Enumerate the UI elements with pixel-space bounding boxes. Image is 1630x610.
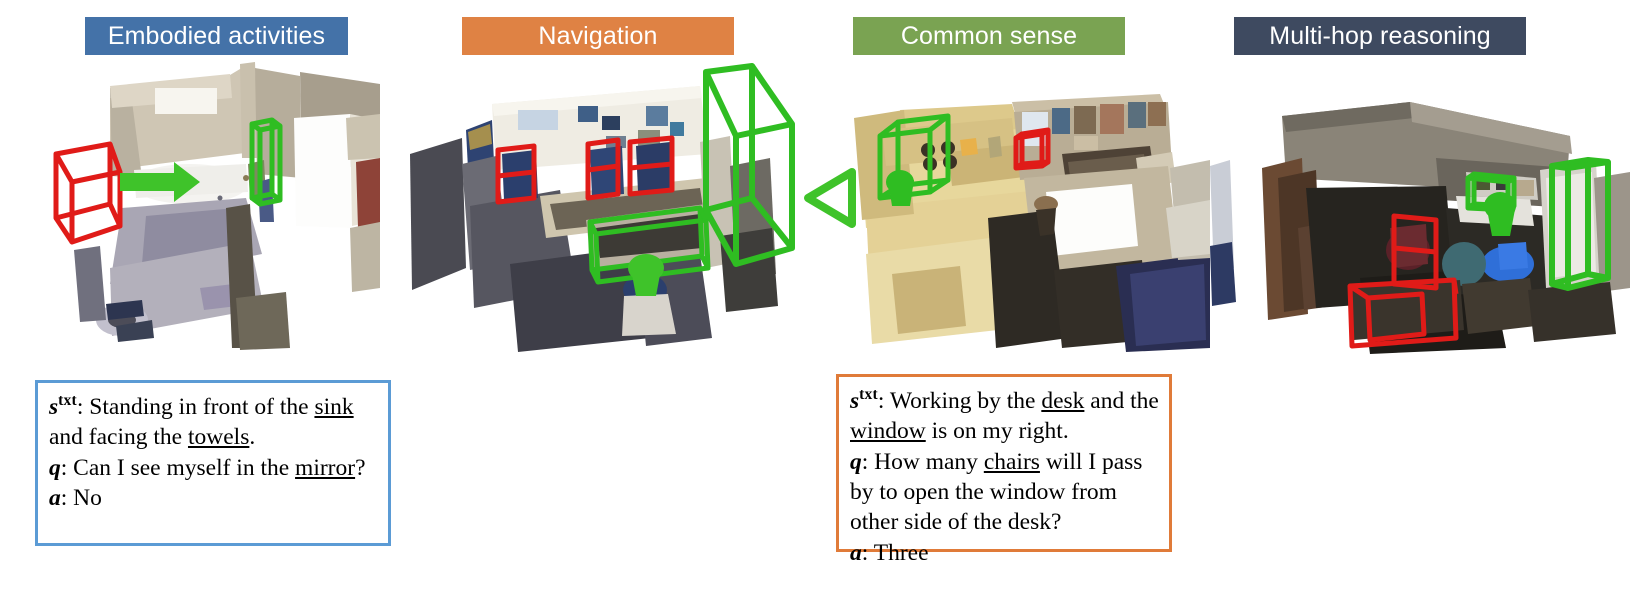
- panel-navigation: Navigation: [400, 0, 800, 610]
- red-bounding-box-sink: [56, 144, 120, 242]
- question-p2: ?: [355, 455, 365, 481]
- header-multi-hop-reasoning: Multi-hop reasoning: [1234, 17, 1526, 55]
- situation-keyword-towels: towels: [188, 424, 249, 450]
- question-p0: : Can I see myself in the: [61, 455, 295, 481]
- header-navigation: Navigation: [462, 17, 734, 55]
- header-embodied-activities: Embodied activities: [85, 17, 348, 55]
- scene-home-office-point-cloud: [1210, 58, 1630, 358]
- answer-value: : No: [61, 485, 102, 511]
- panel-common-sense: Common sense: [800, 0, 1210, 610]
- qa-card-embodied-activities: stxt: Standing in front of the sink and …: [35, 380, 391, 546]
- situation-p0: : Standing in front of the: [77, 394, 315, 420]
- situation-line: stxt: Standing in front of the sink and …: [49, 392, 379, 453]
- answer-line: a: No: [49, 483, 379, 513]
- panel-embodied-activities: Embodied activities: [0, 0, 400, 610]
- situation-p4: .: [249, 424, 255, 450]
- header-label: Common sense: [901, 22, 1077, 51]
- header-label: Navigation: [538, 22, 657, 51]
- scene-office-point-cloud: [400, 58, 800, 358]
- question-line: q: Can I see myself in the mirror?: [49, 453, 379, 483]
- scene-bathroom-point-cloud: [50, 58, 380, 358]
- scene-kitchen-living-room-point-cloud: [800, 58, 1210, 358]
- question-label: q: [49, 455, 61, 481]
- panel-multi-hop-reasoning: Multi-hop reasoning: [1210, 0, 1630, 610]
- situation-label: s: [49, 394, 58, 420]
- situation-keyword-sink: sink: [314, 394, 353, 420]
- qa-text: stxt: Standing in front of the sink and …: [38, 383, 388, 518]
- header-common-sense: Common sense: [853, 17, 1125, 55]
- question-keyword-mirror: mirror: [295, 455, 355, 481]
- answer-label: a: [49, 485, 61, 511]
- situation-p2: and facing the: [49, 424, 188, 450]
- header-label: Multi-hop reasoning: [1269, 22, 1490, 51]
- header-label: Embodied activities: [108, 22, 325, 51]
- situation-superscript: txt: [58, 392, 77, 409]
- qualitative-examples-figure: Embodied activities: [0, 0, 1630, 610]
